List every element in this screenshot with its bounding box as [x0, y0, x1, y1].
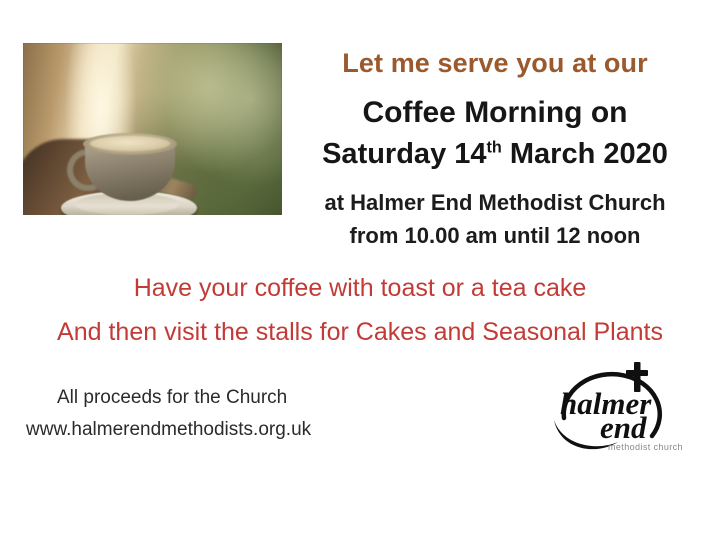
headline-intro: Let me serve you at our: [290, 50, 700, 77]
coffee-photo: [23, 43, 282, 215]
halmer-end-logo: halmer end methodist church: [548, 358, 700, 458]
website-url[interactable]: www.halmerendmethodists.org.uk: [26, 420, 311, 439]
event-date: Saturday 14th March 2020: [290, 140, 700, 169]
event-date-suffix: March 2020: [502, 138, 668, 170]
proceeds-note: All proceeds for the Church: [57, 388, 287, 407]
event-title: Coffee Morning on: [290, 98, 700, 128]
event-time: from 10.00 am until 12 noon: [290, 225, 700, 247]
logo-word-bottom: end: [600, 410, 647, 445]
poster-canvas: Let me serve you at our Coffee Morning o…: [0, 0, 720, 540]
offer-line: Have your coffee with toast or a tea cak…: [0, 276, 720, 301]
coffee-crema-shape: [90, 136, 170, 151]
event-date-ordinal: th: [487, 138, 502, 156]
event-venue: at Halmer End Methodist Church: [290, 192, 700, 214]
stalls-line: And then visit the stalls for Cakes and …: [0, 320, 720, 345]
thumb-shape: [49, 151, 95, 191]
event-date-prefix: Saturday 14: [322, 138, 486, 170]
logo-tagline: methodist church: [608, 442, 683, 452]
